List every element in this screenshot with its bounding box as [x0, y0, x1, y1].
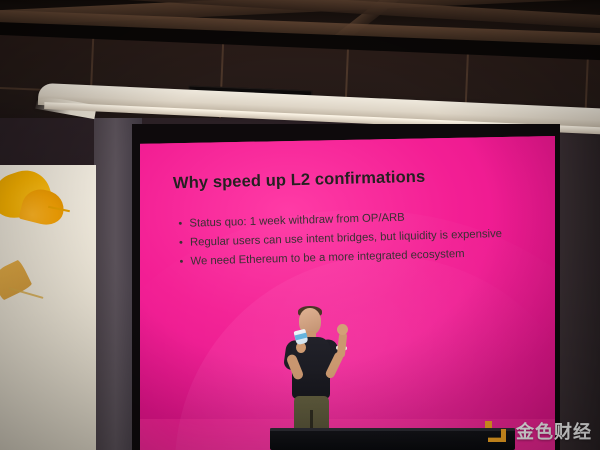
wall-column-right	[556, 118, 600, 450]
speaker-hand-right	[337, 324, 348, 335]
floor-monitor	[270, 428, 515, 450]
logo-square	[485, 421, 492, 428]
logo-mark	[488, 429, 506, 442]
bullet-marker-icon: •	[179, 255, 190, 269]
speaker-forearm-right	[337, 332, 348, 359]
floor-monitor-edge	[270, 428, 515, 431]
presentation-photo: EMERGENCY EXIT Why speed up L2 confirmat…	[0, 0, 600, 450]
list-item: • We need Ethereum to be a more integrat…	[179, 245, 534, 269]
slide-bullet-list: • Status quo: 1 week withdraw from OP/AR…	[178, 207, 534, 274]
bullet-marker-icon: •	[179, 236, 190, 250]
bullet-marker-icon: •	[178, 217, 189, 231]
jinse-logo-icon	[485, 419, 509, 443]
watermark: 金色财经	[485, 418, 592, 444]
bullet-text: We need Ethereum to be a more integrated…	[190, 245, 534, 269]
watermark-text: 金色财经	[516, 418, 592, 444]
